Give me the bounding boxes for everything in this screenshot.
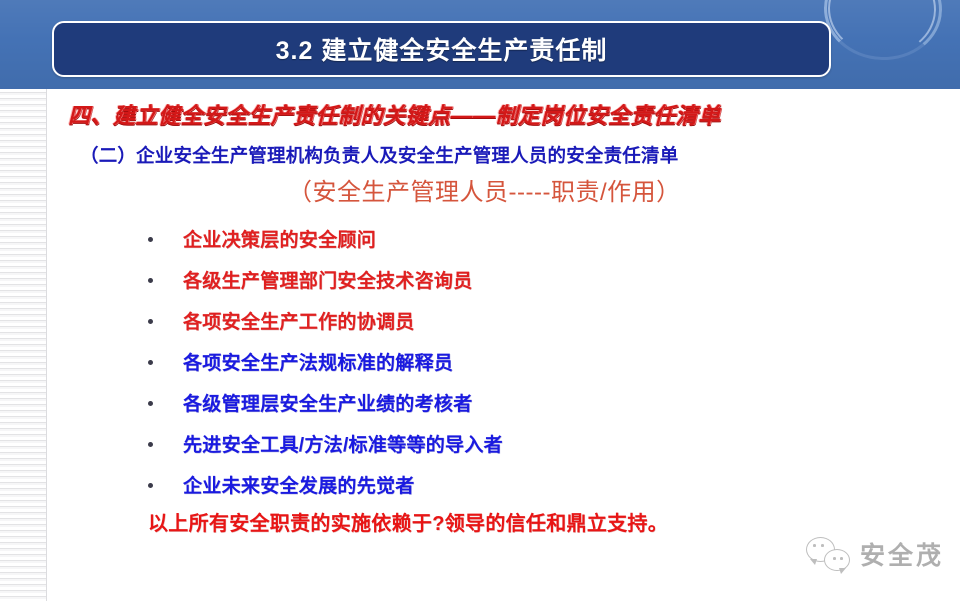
page-title: 3.2 建立健全安全生产责任制 (276, 31, 608, 67)
list-item-label: 各级管理层安全生产业绩的考核者 (183, 389, 473, 416)
wechat-icon (806, 537, 850, 571)
watermark-logo: 安全茂 (806, 536, 944, 572)
list-item: 企业决策层的安全顾问 (148, 218, 848, 259)
subsection-heading-red: （安全生产管理人员-----职责/作用） (288, 172, 681, 207)
list-item: 各项安全生产法规标准的解释员 (148, 341, 848, 382)
slide-title-bar: 3.2 建立健全安全生产责任制 (52, 21, 831, 77)
bullet-dot-icon (148, 442, 153, 447)
list-item: 先进安全工具/方法/标准等等的导入者 (148, 423, 848, 464)
closing-statement: 以上所有安全职责的实施依赖于?领导的信任和鼎立支持。 (148, 507, 668, 536)
list-item: 各级生产管理部门安全技术咨询员 (148, 259, 848, 300)
bullet-dot-icon (148, 483, 153, 488)
slide-canvas: 3.2 建立健全安全生产责任制 四、建立健全安全生产责任制的关键点——制定岗位安… (0, 0, 960, 601)
list-item-label: 企业决策层的安全顾问 (183, 225, 376, 252)
bullet-dot-icon (148, 401, 153, 406)
wechat-bubble-small-icon (824, 549, 850, 571)
list-item: 各级管理层安全生产业绩的考核者 (148, 382, 848, 423)
list-item-label: 各级生产管理部门安全技术咨询员 (183, 266, 473, 293)
list-item-label: 企业未来安全发展的先觉者 (183, 471, 415, 498)
bullet-dot-icon (148, 319, 153, 324)
striped-gutter-decoration (0, 89, 47, 601)
list-item: 各项安全生产工作的协调员 (148, 300, 848, 341)
bullet-dot-icon (148, 278, 153, 283)
list-item-label: 各项安全生产法规标准的解释员 (183, 348, 453, 375)
wechat-eye-icon (821, 544, 824, 547)
bullet-dot-icon (148, 237, 153, 242)
wechat-eye-icon (833, 557, 836, 560)
responsibility-bullet-list: 企业决策层的安全顾问 各级生产管理部门安全技术咨询员 各项安全生产工作的协调员 … (148, 218, 848, 505)
wechat-eye-icon (840, 557, 843, 560)
wechat-eye-icon (813, 544, 816, 547)
subsection-heading-blue: （二）企业安全生产管理机构负责人及安全生产管理人员的安全责任清单 (80, 142, 900, 168)
striped-gutter-edge (46, 89, 47, 601)
list-item-label: 先进安全工具/方法/标准等等的导入者 (183, 430, 503, 457)
list-item: 企业未来安全发展的先觉者 (148, 464, 848, 505)
bullet-dot-icon (148, 360, 153, 365)
list-item-label: 各项安全生产工作的协调员 (183, 307, 415, 334)
watermark-logo-text: 安全茂 (860, 536, 944, 572)
section-heading-red: 四、建立健全安全生产责任制的关键点——制定岗位安全责任清单 (68, 98, 908, 130)
